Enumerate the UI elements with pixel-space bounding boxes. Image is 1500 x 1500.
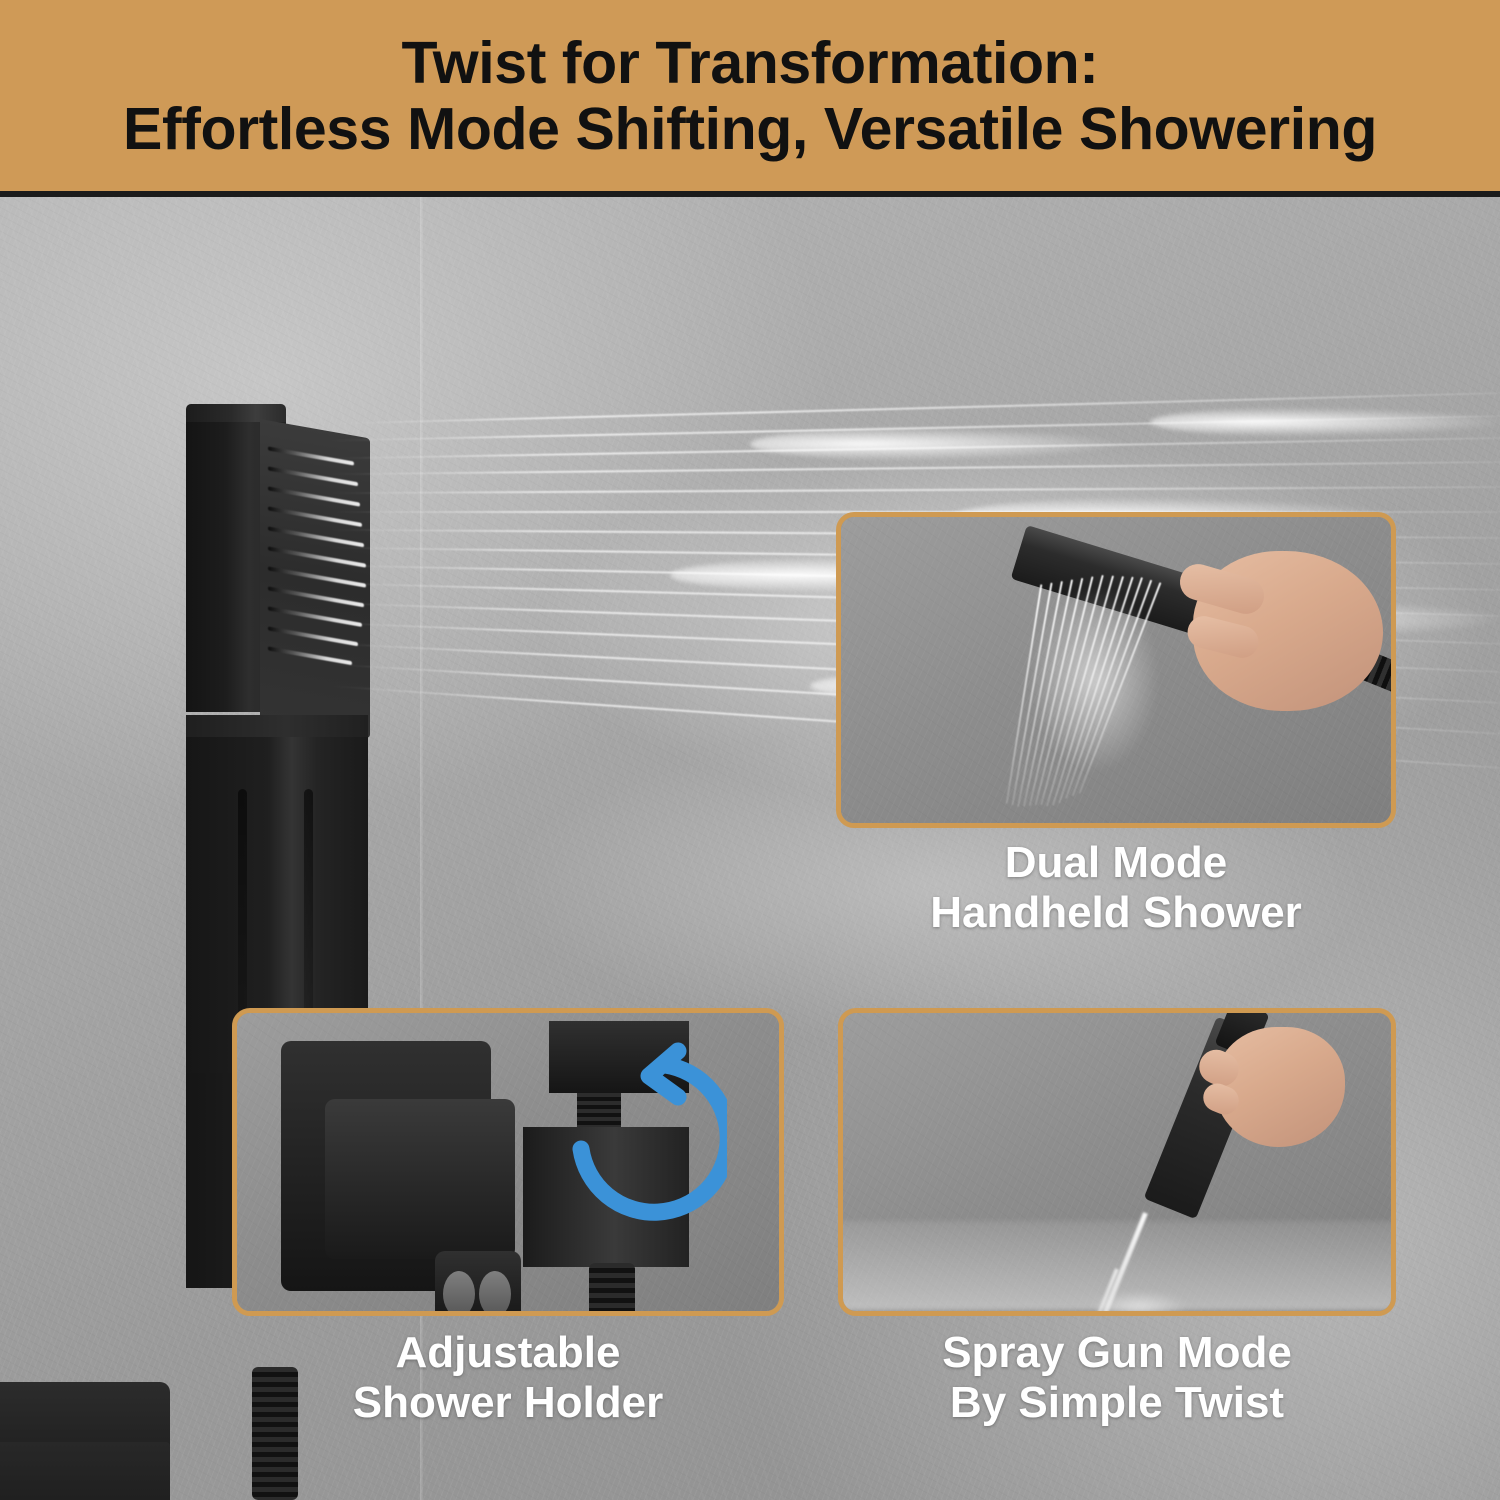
header-title-line-1: Twist for Transformation: [402,30,1099,96]
header-title-line-2: Effortless Mode Shifting, Versatile Show… [123,96,1377,162]
callout-dual-mode-handheld-shower [836,512,1396,828]
callout-spray-gun-mode [838,1008,1396,1316]
blue-rotation-arrow-icon [537,1025,727,1255]
caption-adjustable-shower-holder: Adjustable Shower Holder [232,1328,784,1428]
header-banner: Twist for Transformation: Effortless Mod… [0,0,1500,191]
caption-spray-gun-mode: Spray Gun Mode By Simple Twist [838,1328,1396,1428]
caption-dual-mode-handheld-shower: Dual Mode Handheld Shower [836,838,1396,938]
callout-adjustable-shower-holder [232,1008,784,1316]
holder-hose [589,1263,635,1311]
valve-body [0,1442,170,1500]
hand-holding-spray-gun [1215,1027,1345,1147]
jet-splash-glow [1049,1281,1199,1311]
outlet-oval-left [443,1271,475,1311]
holder-arm-block [325,1099,515,1259]
outlet-oval-right [479,1271,511,1311]
infographic-page: Twist for Transformation: Effortless Mod… [0,0,1500,1500]
